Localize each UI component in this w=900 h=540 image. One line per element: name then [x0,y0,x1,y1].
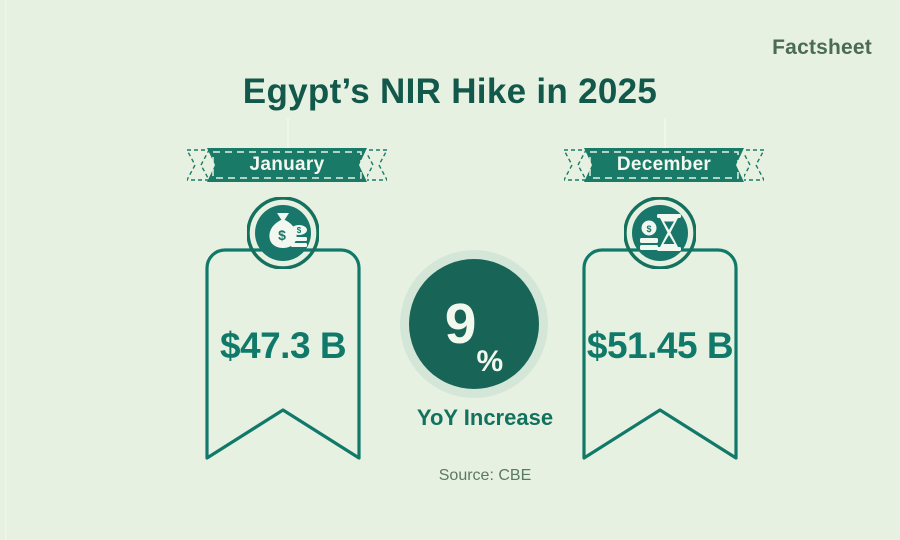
ribbon-label-january: January [187,148,387,182]
yoy-caption-row: YoY Increase [0,405,900,431]
value-january: $47.3 B [182,325,384,367]
page-title: Egypt’s NIR Hike in 2025 [0,72,900,112]
source-label: Source: CBE [439,467,531,484]
ribbon-banner-december: December [564,148,764,182]
source-row: Source: CBE [0,467,900,485]
connector-line-december [664,118,666,148]
infographic-canvas: Factsheet Egypt’s NIR Hike in 2025 Janua… [0,0,900,540]
value-december: $51.45 B [559,325,761,367]
hourglass-coins-icon: $ [624,197,696,269]
connector-line-january [287,118,289,148]
percent-circle: 9 % [409,259,539,389]
ribbon-label-december: December [564,148,764,182]
yoy-percent-badge: 9 % [400,250,548,398]
svg-text:$: $ [278,227,286,243]
svg-text:$: $ [646,224,651,234]
svg-text:$: $ [297,226,302,235]
ribbon-banner-january: January [187,148,387,182]
percent-symbol: % [477,347,504,377]
factsheet-label: Factsheet [772,36,872,60]
yoy-caption: YoY Increase [417,405,553,430]
percent-number: 9 [445,296,476,353]
money-bag-coins-icon: $ $ [247,197,319,269]
